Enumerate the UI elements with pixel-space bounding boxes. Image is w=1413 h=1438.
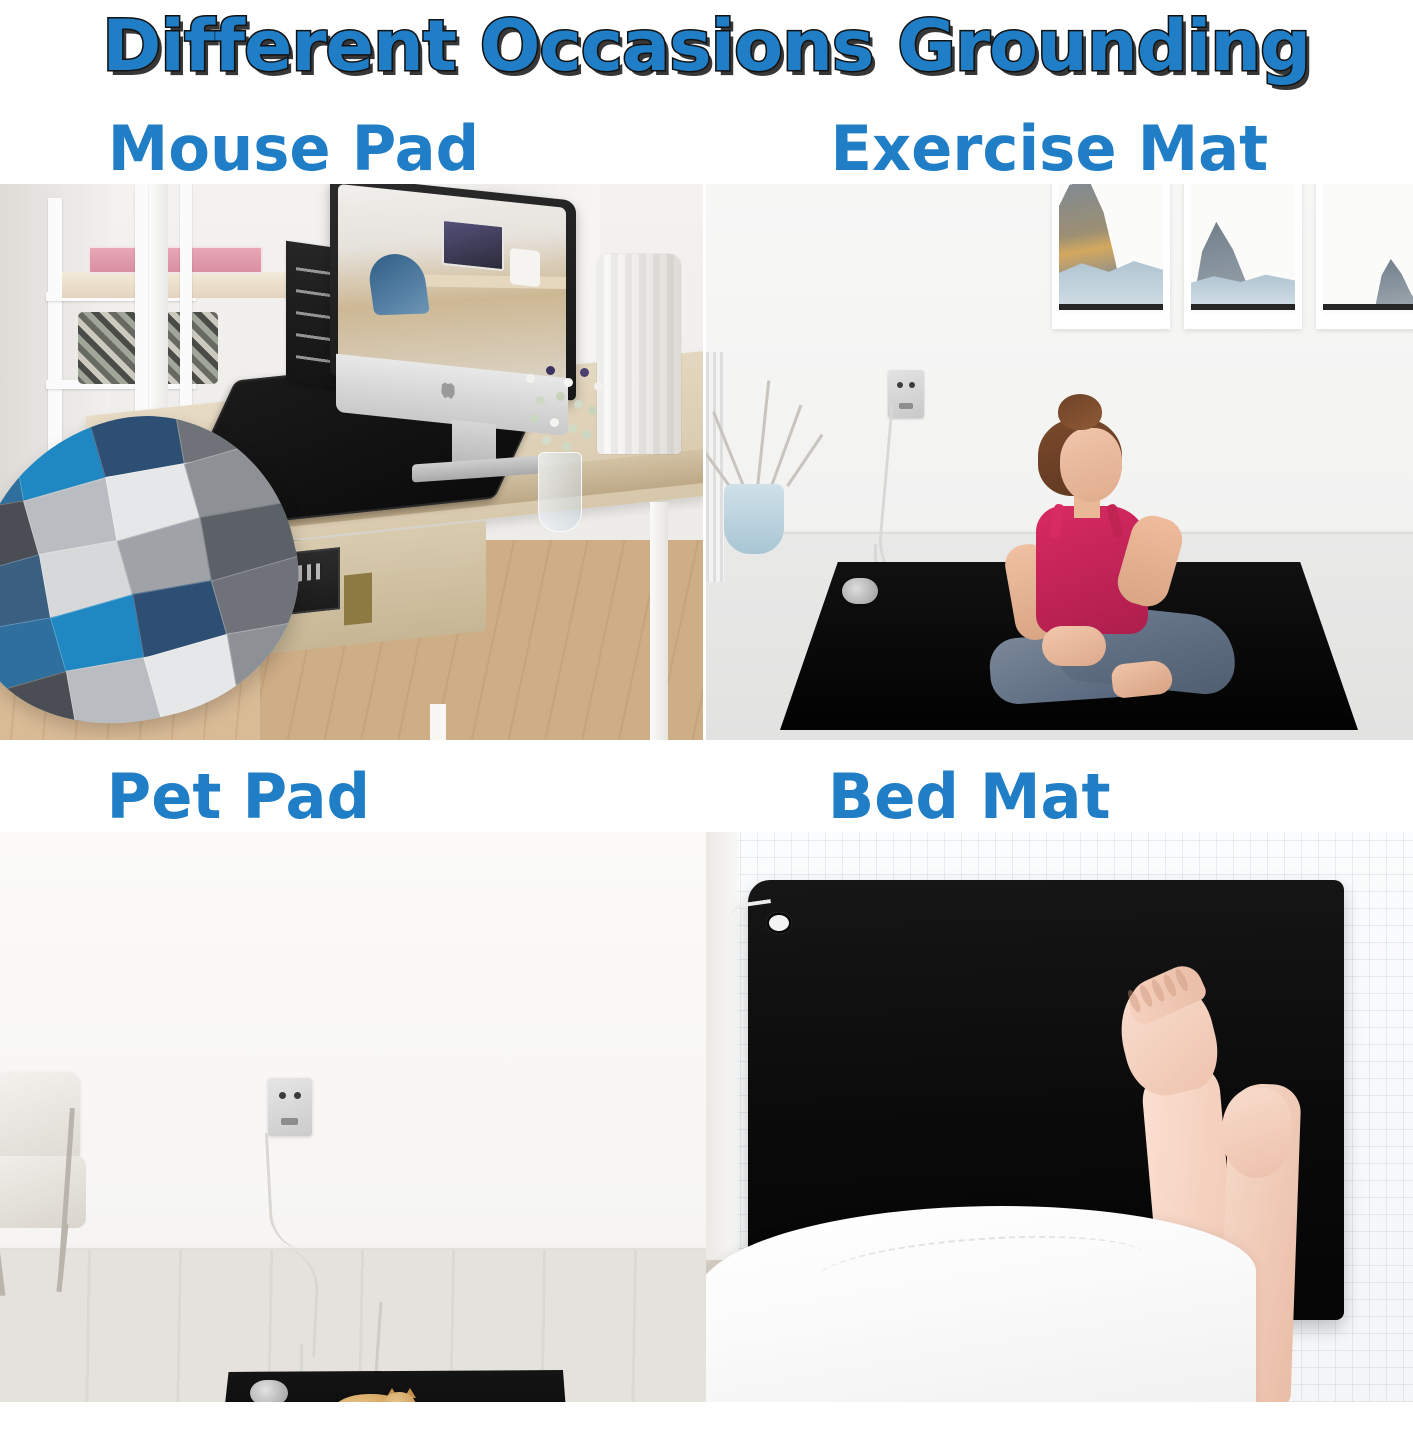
heel [1222, 1088, 1292, 1178]
screen-reflection [338, 184, 566, 384]
pink-book [88, 246, 263, 274]
bed-scene [706, 832, 1413, 1402]
flower-bloom [526, 374, 535, 383]
shelf-board [62, 272, 292, 298]
hair-bun [1058, 394, 1102, 430]
caption-mouse-pad: Mouse Pad [0, 92, 706, 184]
storage-box [344, 573, 372, 626]
flower-vase [538, 452, 582, 532]
outlet-hole-icon [897, 382, 903, 388]
mountain-peak [1376, 256, 1413, 304]
photo-mouse-pad [0, 184, 703, 740]
yoga-woman-illustration [964, 394, 1214, 694]
caption-mouse-pad-label: Mouse Pad [107, 118, 478, 180]
outlet-hole-icon [909, 382, 915, 388]
outlet-plug [281, 1118, 298, 1125]
flower-bloom [580, 368, 589, 377]
sleeping-cat [332, 1384, 420, 1402]
grounding-cord [265, 1131, 311, 1253]
room-scene-living [0, 832, 706, 1402]
flower-bloom [582, 430, 591, 439]
artwork-canvas [1191, 184, 1295, 314]
artwork-canvas [1059, 184, 1163, 314]
armchair [0, 1072, 98, 1302]
caption-exercise-mat: Exercise Mat [706, 92, 1413, 184]
flower-bloom [574, 400, 583, 409]
flower-bloom [542, 436, 551, 445]
dried-branches [712, 370, 822, 500]
page-title-bar: Different Occasions Grounding [0, 0, 1413, 92]
flowers [516, 362, 608, 462]
page-title: Different Occasions Grounding [103, 9, 1311, 83]
flower-bloom [564, 378, 573, 387]
bare-foot [1110, 659, 1173, 699]
armchair-leg [56, 1224, 68, 1292]
occasions-grid: Mouse Pad Exercise Mat [0, 92, 1413, 1402]
wall-outlet [268, 1078, 312, 1136]
caption-pet-pad-label: Pet Pad [106, 766, 369, 828]
head [1060, 428, 1122, 502]
ceramic-vase [724, 484, 784, 554]
caption-bed-mat: Bed Mat [706, 740, 1413, 832]
caption-bed-mat-label: Bed Mat [828, 766, 1111, 828]
artwork-baseline [1191, 304, 1295, 310]
artwork-baseline [1323, 304, 1413, 310]
photo-pet-pad [0, 832, 706, 1402]
desk-leg [430, 704, 446, 740]
framed-artwork [1052, 184, 1170, 329]
flower-bloom [568, 424, 577, 433]
flower-bloom [562, 442, 571, 451]
room-scene-yoga [706, 184, 1413, 740]
reflection-lamp [510, 248, 540, 287]
artwork-baseline [1059, 304, 1163, 310]
flower-bloom [556, 392, 565, 401]
outlet-hole-icon [294, 1092, 301, 1099]
flower-bloom [588, 406, 597, 415]
bed-sheet [706, 1206, 1256, 1402]
clasped-hands [1042, 626, 1106, 666]
flower-bloom [546, 366, 555, 375]
armchair-leg [0, 1224, 5, 1296]
armchair-seat [0, 1156, 86, 1228]
mat-cord-connector [842, 578, 878, 604]
caption-pet-pad: Pet Pad [0, 740, 706, 832]
room-scene-office [0, 184, 703, 740]
mat-cord-connector [250, 1380, 288, 1402]
outlet-hole-icon [279, 1092, 286, 1099]
flower-bloom [536, 396, 545, 405]
reflection-chair [366, 253, 430, 315]
flower-bloom [530, 414, 539, 423]
framed-artwork [1316, 184, 1413, 329]
photo-bed-mat [706, 832, 1413, 1402]
framed-artwork [1184, 184, 1302, 329]
flower-bloom [550, 418, 559, 427]
flower-bloom [594, 382, 603, 391]
reflection-monitor [442, 219, 504, 272]
caption-exercise-mat-label: Exercise Mat [831, 118, 1269, 180]
floor-lamp [597, 254, 681, 454]
photo-exercise-mat [706, 184, 1413, 740]
artwork-canvas [1323, 184, 1413, 314]
desk-leg [650, 502, 668, 740]
